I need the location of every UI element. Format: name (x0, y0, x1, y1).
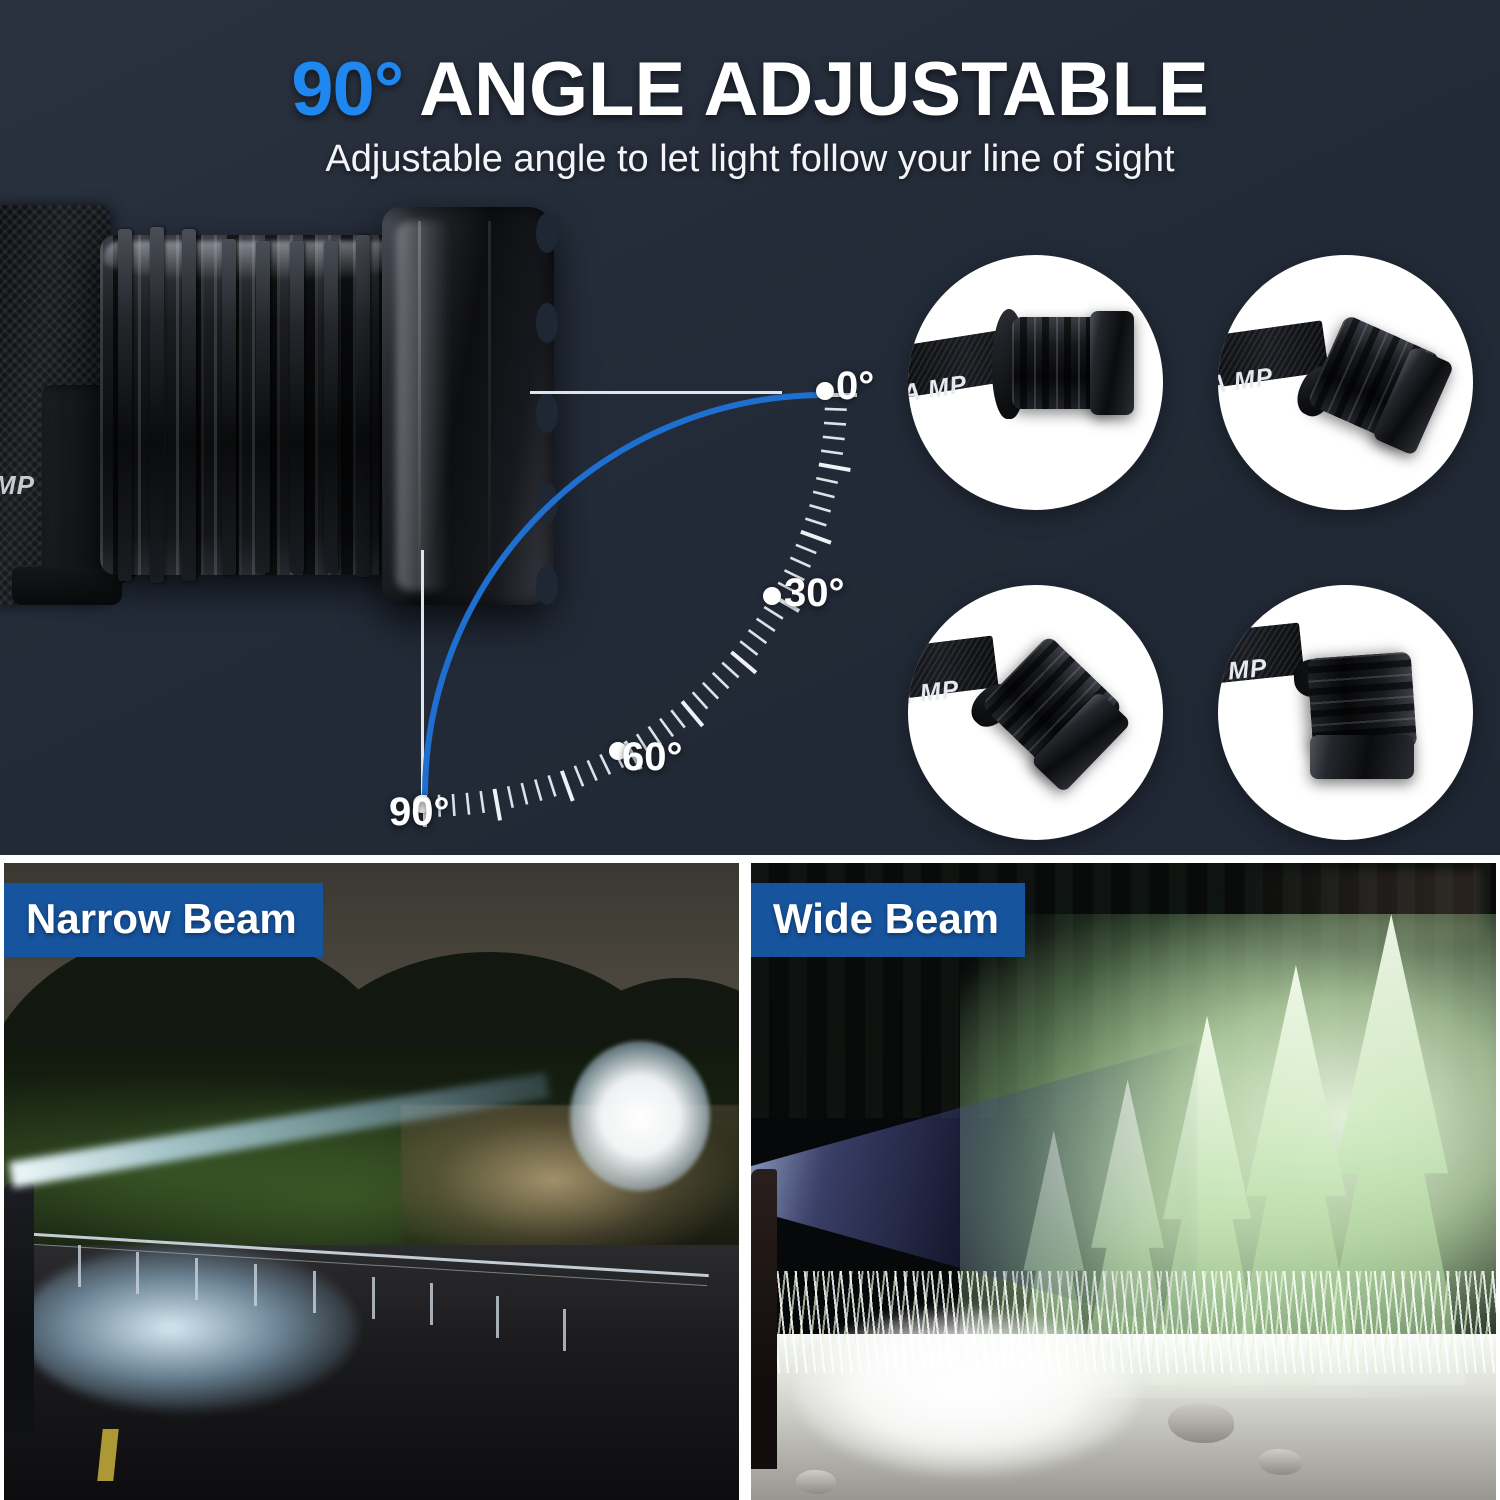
narrow-beam-scene (4, 863, 739, 1500)
heatsink-fin (290, 241, 304, 573)
strap-logo-text: A MP (1218, 363, 1275, 401)
guardrail-post (563, 1309, 566, 1351)
guardrail-post (372, 1277, 375, 1319)
pivot-bracket-foot (12, 567, 122, 605)
heatsink-fin (256, 241, 270, 573)
thumb-angle-60: A MP (908, 585, 1163, 840)
lamp-reflector-head (1310, 735, 1414, 779)
guardrail-post (496, 1296, 499, 1338)
rock (1168, 1403, 1234, 1443)
rock (796, 1470, 836, 1494)
product-feature-image: 90°ANGLE ADJUSTABLE Adjustable angle to … (0, 0, 1500, 1500)
title-main-text: ANGLE ADJUSTABLE (419, 47, 1209, 132)
rock (1258, 1449, 1302, 1475)
angle-label-60: 60° (622, 735, 683, 780)
guardrail-post (136, 1252, 139, 1294)
strap-logo-text: A MP (1218, 654, 1269, 690)
page-title: 90°ANGLE ADJUSTABLE (0, 46, 1500, 133)
strap-logo-text: A MP (908, 675, 961, 712)
thumb-angle-90: A MP (1218, 585, 1473, 840)
heatsink-fin (222, 239, 236, 575)
angle-dot-30 (763, 587, 781, 605)
guardrail-post (254, 1264, 257, 1306)
thumb-angle-0: A MP (908, 255, 1163, 510)
guardrail-post (313, 1271, 316, 1313)
angle-label-30: 30° (784, 571, 845, 616)
title-angle-highlight: 90° (291, 47, 403, 132)
angle-adjustable-section: 90°ANGLE ADJUSTABLE Adjustable angle to … (0, 0, 1500, 855)
wide-beam-scene (751, 863, 1496, 1500)
heatsink-fin (356, 235, 370, 577)
guardrail-post (195, 1258, 198, 1300)
thumb-angle-30: A MP (1218, 255, 1473, 510)
guardrail-post (430, 1283, 433, 1325)
heatsink-fin (118, 229, 132, 581)
narrow-beam-badge: Narrow Beam (4, 883, 323, 957)
section-divider (0, 855, 1500, 863)
heatsink-fin (324, 241, 338, 573)
lamp-reflector-head (1090, 311, 1134, 415)
head-scallop (536, 213, 558, 253)
person-silhouette (4, 1182, 34, 1452)
angle-dot-0 (816, 382, 834, 400)
panel-gap-divider (739, 863, 751, 1500)
page-subtitle: Adjustable angle to let light follow you… (0, 138, 1500, 181)
wide-beam-panel: Wide Beam (751, 863, 1496, 1500)
beam-hotspot (570, 1041, 710, 1191)
road-beam-pool (19, 1245, 357, 1411)
narrow-beam-panel: Narrow Beam (4, 863, 739, 1500)
guardrail-post (78, 1245, 81, 1287)
head-scallop (536, 303, 558, 343)
beam-hotspot (796, 1309, 1139, 1475)
angle-label-0: 0° (836, 364, 874, 409)
heatsink-fin (150, 227, 164, 583)
heatsink-fin (182, 229, 196, 581)
wide-beam-badge: Wide Beam (751, 883, 1025, 957)
angle-label-90: 90° (389, 790, 450, 835)
person-silhouette (751, 1169, 777, 1469)
